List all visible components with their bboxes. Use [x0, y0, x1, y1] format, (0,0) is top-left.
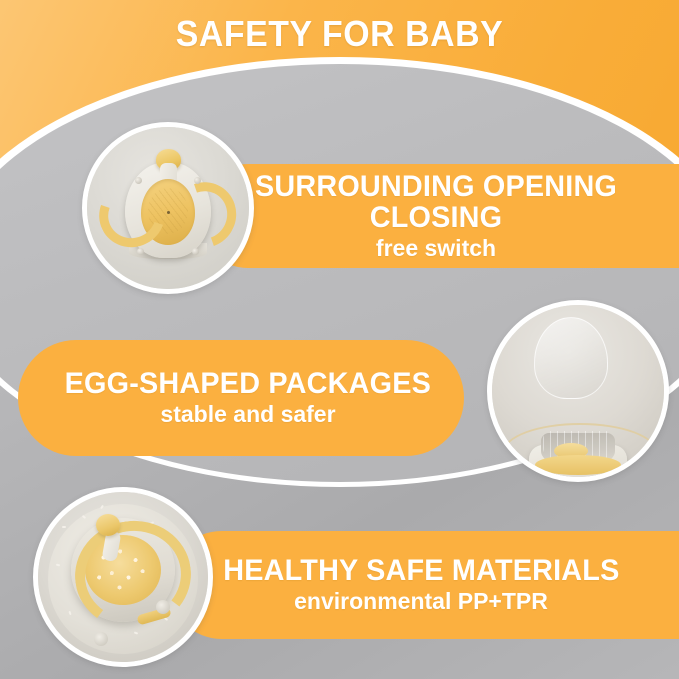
photo-1-screw: [192, 248, 199, 255]
photo-2-rim-ring: [503, 423, 657, 481]
product-photo-top-view: [38, 492, 208, 662]
feature-3-subline: environmental PP+TPR: [294, 589, 548, 614]
feature-3-photo: [33, 487, 213, 667]
page-title: SAFETY FOR BABY: [20, 12, 658, 56]
photo-3-knob: [96, 514, 120, 536]
photo-1-screw: [137, 248, 144, 255]
feature-2-headline: EGG-SHAPED PACKAGES: [65, 368, 431, 399]
feature-1-photo: [82, 122, 254, 294]
feature-pill-2: EGG-SHAPED PACKAGES stable and safer: [18, 340, 464, 456]
photo-3-foot: [156, 600, 170, 614]
infographic-canvas: SAFETY FOR BABY SURROUNDING OPENING CLOS…: [0, 0, 679, 679]
feature-2-subline: stable and safer: [160, 402, 335, 427]
photo-3-foot: [94, 632, 108, 646]
product-photo-capsule: [492, 305, 664, 477]
feature-pill-3: HEALTHY SAFE MATERIALS environmental PP+…: [168, 531, 679, 639]
feature-3-headline: HEALTHY SAFE MATERIALS: [223, 555, 619, 586]
product-photo-front-view: [87, 127, 249, 289]
feature-1-subline: free switch: [376, 236, 496, 261]
feature-2-photo: [487, 300, 669, 482]
photo-1-screw: [194, 177, 201, 184]
photo-3-speck: [62, 526, 66, 528]
photo-1-screw: [135, 177, 142, 184]
photo-2-clear-lid: [534, 317, 608, 399]
feature-pill-1: SURROUNDING OPENING CLOSING free switch: [196, 164, 679, 268]
feature-1-headline: SURROUNDING OPENING CLOSING: [206, 171, 667, 233]
